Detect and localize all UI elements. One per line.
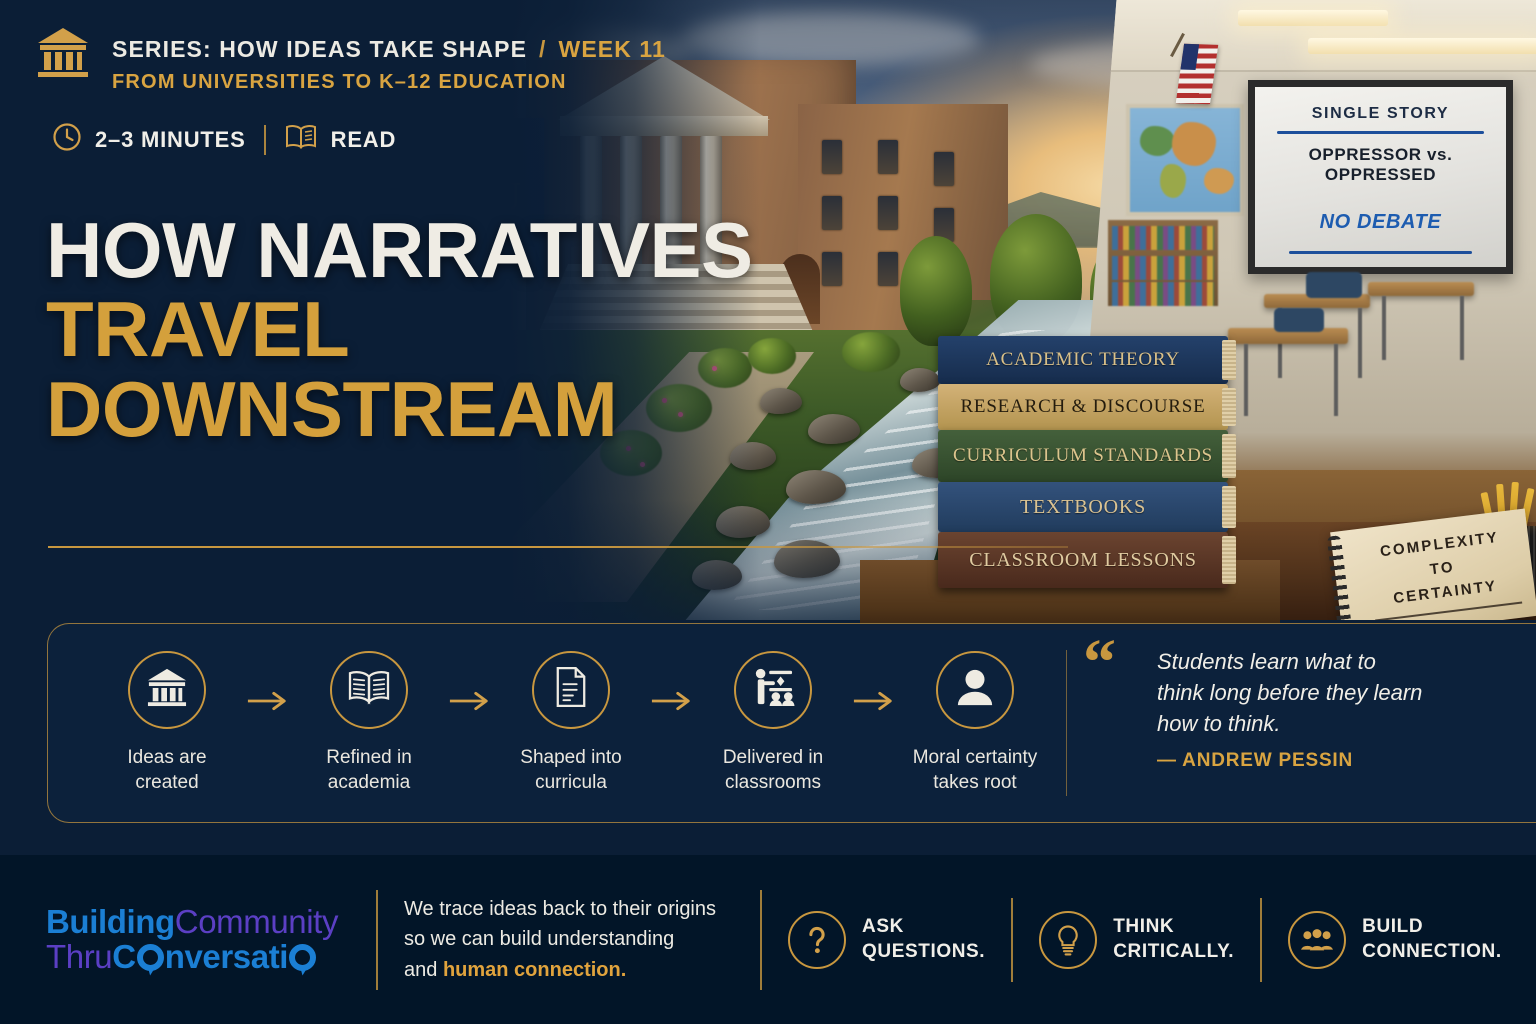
footer-bar: BuildingCommunity ThruCnversati We trace… — [0, 855, 1536, 1024]
question-mark-icon — [788, 911, 846, 969]
bush — [842, 332, 900, 372]
step-label: Ideas arecreated — [94, 745, 240, 795]
building-window — [934, 152, 954, 186]
step-icon-circle — [532, 651, 610, 729]
desk-leg — [1382, 296, 1386, 360]
chair-back — [1274, 308, 1324, 332]
book-pages — [1222, 434, 1236, 478]
quote-attribution: — ANDREW PESSIN — [1157, 750, 1427, 772]
building-window — [822, 252, 842, 286]
whiteboard: SINGLE STORY OPPRESSOR vs.OPPRESSED NO D… — [1248, 80, 1513, 274]
series-separator: / — [539, 36, 547, 63]
continent — [1140, 126, 1174, 156]
read-label: READ — [331, 127, 397, 153]
step-icon-circle — [734, 651, 812, 729]
quote-text: Students learn what to think long before… — [1157, 646, 1427, 740]
series-line: SERIES: HOW IDEAS TAKE SHAPE / WEEK 11 — [112, 36, 666, 63]
logo-word-thru: Thru — [46, 938, 112, 975]
flow-step-shaped-curricula[interactable]: Shaped intocurricula — [498, 651, 644, 795]
read-chip: READ — [284, 123, 397, 156]
title-line-1: HOW NARRATIVES — [46, 214, 753, 287]
tagline-line-3: and human connection. — [404, 955, 734, 985]
infographic-canvas: U — [0, 0, 1536, 1024]
continent — [1160, 164, 1186, 198]
lightbulb-icon — [1039, 911, 1097, 969]
book-spine: TEXTBOOKS — [938, 482, 1228, 532]
logo-word-conversation-mid: nversati — [165, 938, 288, 975]
tagline-line-2: so we can build understanding — [404, 924, 734, 954]
desk-leg — [1460, 296, 1464, 360]
arrow-right-icon — [240, 690, 296, 712]
cta-ask-questions[interactable]: ASKQUESTIONS. — [762, 911, 1011, 969]
book-pages — [1222, 340, 1236, 380]
footer-tagline: We trace ideas back to their origins so … — [404, 894, 734, 985]
tree — [900, 236, 972, 346]
desk-leg — [1244, 344, 1248, 416]
cta-think-critically[interactable]: THINKCRITICALLY. — [1013, 911, 1260, 969]
tagline-line-3-pre: and — [404, 959, 443, 981]
building-window — [878, 140, 898, 174]
whiteboard-line-3: NO DEBATE — [1255, 211, 1506, 234]
flow-step-delivered-classrooms[interactable]: Delivered inclassrooms — [700, 651, 846, 795]
ceiling-light — [1238, 10, 1388, 26]
read-time-label: 2–3 MINUTES — [95, 127, 246, 153]
teacher-classroom-icon — [750, 667, 796, 712]
cta-label: BUILDCONNECTION. — [1362, 915, 1502, 964]
page-title: HOW NARRATIVES TRAVEL DOWNSTREAM — [46, 214, 753, 446]
continent — [1204, 168, 1234, 194]
step-label: Delivered inclassrooms — [700, 745, 846, 795]
series-row: SERIES: HOW IDEAS TAKE SHAPE / WEEK 11 F… — [36, 26, 666, 94]
book-stack: ACADEMIC THEORY RESEARCH & DISCOURSE CUR… — [938, 336, 1228, 598]
book-pages — [1222, 388, 1236, 426]
book-spine: RESEARCH & DISCOURSE — [938, 384, 1228, 430]
book-pages — [1222, 486, 1236, 528]
logo-word-community: Community — [175, 903, 338, 940]
book-pages — [1222, 536, 1236, 584]
speech-bubble-o-icon — [289, 944, 316, 971]
step-icon-circle — [128, 651, 206, 729]
cta-build-connection[interactable]: BUILDCONNECTION. — [1262, 911, 1528, 969]
book-spine: ACADEMIC THEORY — [938, 336, 1228, 384]
book-label: TEXTBOOKS — [1020, 496, 1146, 519]
student-desk — [1368, 282, 1474, 296]
building-window — [822, 140, 842, 174]
building-window — [878, 196, 898, 230]
process-flow-band: Ideas arecreated — [47, 623, 1536, 823]
step-label: Shaped intocurricula — [498, 745, 644, 795]
ceiling-light — [1308, 38, 1536, 54]
document-icon — [554, 666, 588, 713]
quote-mark-icon: “ — [1083, 640, 1116, 686]
step-label: Moral certaintytakes root — [902, 745, 1048, 795]
whiteboard-rule — [1277, 131, 1484, 134]
read-time-chip: 2–3 MINUTES — [52, 122, 246, 157]
flow-step-refined-academia[interactable]: Refined inacademia — [296, 651, 442, 795]
book-row — [1112, 226, 1214, 250]
step-icon-circle — [330, 651, 408, 729]
logo-word-conversation-pre: C — [112, 938, 135, 975]
book-label: CURRICULUM STANDARDS — [953, 445, 1213, 467]
people-group-icon — [1288, 911, 1346, 969]
brand-logo[interactable]: BuildingCommunity ThruCnversati — [46, 905, 376, 974]
step-icon-circle — [936, 651, 1014, 729]
series-subtitle: FROM UNIVERSITIES TO K–12 EDUCATION — [112, 71, 666, 94]
book-row — [1112, 282, 1214, 306]
book-row — [1112, 256, 1214, 280]
arrow-right-icon — [644, 690, 700, 712]
read-meta-row: 2–3 MINUTES READ — [52, 122, 666, 157]
world-map-poster — [1126, 104, 1244, 216]
title-underline — [48, 546, 1068, 548]
title-line-3: DOWNSTREAM — [46, 373, 753, 446]
series-week: WEEK 11 — [559, 36, 666, 63]
bookcase — [1108, 220, 1218, 306]
rock — [900, 368, 940, 392]
step-label: Refined inacademia — [296, 745, 442, 795]
rock — [808, 414, 860, 444]
book-spine: CLASSROOM LESSONS — [938, 532, 1228, 588]
cta-label: THINKCRITICALLY. — [1113, 915, 1234, 964]
book-label: RESEARCH & DISCOURSE — [960, 396, 1205, 418]
cta-label: ASKQUESTIONS. — [862, 915, 985, 964]
open-book-icon — [284, 123, 318, 156]
rock — [760, 388, 802, 414]
desk-leg — [1358, 308, 1362, 378]
logo-line-1: BuildingCommunity — [46, 905, 376, 939]
book-label: ACADEMIC THEORY — [986, 349, 1180, 371]
bank-institution-icon — [146, 667, 188, 712]
whiteboard-line-1: SINGLE STORY — [1255, 105, 1506, 123]
tagline-accent: human connection. — [443, 959, 626, 981]
tagline-line-1: We trace ideas back to their origins — [404, 894, 734, 924]
series-text-block: SERIES: HOW IDEAS TAKE SHAPE / WEEK 11 F… — [112, 26, 666, 94]
series-label: SERIES: HOW IDEAS TAKE SHAPE — [112, 36, 527, 63]
notepad-text: COMPLEXITYTOCERTAINTY — [1358, 523, 1528, 614]
pull-quote: “ Students learn what to think long befo… — [1067, 624, 1427, 822]
open-book-icon — [347, 668, 391, 711]
process-steps: Ideas arecreated — [48, 624, 1048, 822]
arrow-right-icon — [442, 690, 498, 712]
footer-ctas: ASKQUESTIONS. THINKCRITICALLY. — [762, 898, 1528, 982]
title-line-2: TRAVEL — [46, 293, 753, 366]
continent — [1172, 122, 1216, 166]
book-spine: CURRICULUM STANDARDS — [938, 430, 1228, 482]
speech-bubble-o-icon — [137, 944, 164, 971]
logo-line-2: ThruCnversati — [46, 940, 376, 974]
building-window — [822, 196, 842, 230]
arrow-right-icon — [846, 690, 902, 712]
rock — [786, 470, 846, 504]
flow-step-moral-certainty[interactable]: Moral certaintytakes root — [902, 651, 1048, 795]
book-label: CLASSROOM LESSONS — [969, 549, 1197, 572]
flow-step-ideas-created[interactable]: Ideas arecreated — [94, 651, 240, 795]
bank-institution-icon — [36, 26, 90, 78]
footer-divider — [376, 890, 378, 990]
logo-word-building: Building — [46, 903, 175, 940]
whiteboard-rule — [1289, 251, 1472, 254]
whiteboard-line-2: OPPRESSOR vs.OPPRESSED — [1255, 145, 1506, 185]
chair-back — [1306, 272, 1362, 298]
person-icon — [955, 667, 995, 712]
building-window — [878, 252, 898, 286]
desk-leg — [1334, 344, 1338, 416]
header-meta: SERIES: HOW IDEAS TAKE SHAPE / WEEK 11 F… — [36, 26, 666, 157]
meta-divider — [264, 125, 266, 155]
clock-icon — [52, 122, 82, 157]
